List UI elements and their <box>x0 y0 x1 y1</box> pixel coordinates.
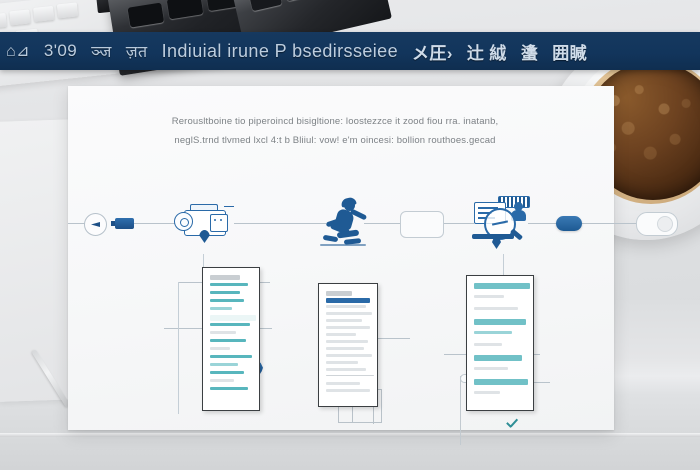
panel-content <box>206 271 256 407</box>
panel-row-line <box>210 291 240 294</box>
header-badge: メ圧› <box>412 39 453 64</box>
panel-row-title <box>210 275 240 280</box>
flow-connector <box>132 223 176 224</box>
panel-row-line <box>326 312 372 315</box>
panel-row-line <box>326 326 370 329</box>
toggle-switch[interactable] <box>636 212 678 236</box>
panel-row-line <box>326 347 364 350</box>
panel-row-band <box>210 315 256 321</box>
device-key <box>249 0 282 11</box>
wireframe-tick <box>373 404 374 424</box>
panel-row-line <box>210 339 246 342</box>
panel-row-band <box>474 355 522 361</box>
panel-row-band <box>474 379 528 385</box>
rounded-rect-placeholder[interactable] <box>400 211 444 238</box>
panel-row-line <box>210 283 248 286</box>
document-panel-left[interactable] <box>202 267 260 411</box>
blue-pill-node[interactable] <box>556 216 582 231</box>
panel-row-line <box>210 299 244 302</box>
panel-row-line <box>210 371 244 374</box>
panel-row-line <box>210 347 230 350</box>
device-key <box>127 3 164 28</box>
printer-antenna <box>224 206 234 207</box>
header-band: ⌂⊿ 3'09 ञ्ज ज़त Indiuial irune P bsedirs… <box>0 32 700 70</box>
panel-row-line <box>210 355 252 358</box>
header-tail-2: 䗬 <box>521 39 538 64</box>
panel-row-line <box>210 331 236 334</box>
flow-connector <box>580 223 638 224</box>
device-key <box>167 0 204 19</box>
desk-edge <box>0 433 700 437</box>
panel-row-line <box>210 363 238 366</box>
printer-scanner-icon[interactable] <box>172 202 236 246</box>
flow-connector-vertical <box>178 282 179 414</box>
header-tail-1: 辻 䋐 <box>467 39 507 64</box>
flow-connector <box>234 223 326 224</box>
panel-row-line <box>474 307 518 310</box>
keyboard-key <box>0 13 7 29</box>
panel-row-line <box>210 387 248 390</box>
target-cursor-icon[interactable] <box>84 213 107 236</box>
panel-row-line <box>474 295 504 298</box>
keyboard-key <box>33 6 54 22</box>
analytics-base <box>472 234 514 239</box>
panel-row-head <box>326 298 370 303</box>
report-panel-right[interactable] <box>466 275 534 411</box>
panel-row-sep <box>326 375 374 376</box>
panel-row-line <box>326 333 356 336</box>
scanner-disc <box>174 212 193 231</box>
header-title: Indiuial irune P bsedirsseiee <box>162 41 398 62</box>
panel-row-line <box>210 307 232 310</box>
printer-pin-icon <box>199 230 210 243</box>
content-card: Rerousltboine tio piperoincd bisigltione… <box>68 86 614 430</box>
panel-row-line <box>474 343 502 346</box>
running-person-icon[interactable] <box>320 198 368 250</box>
flow-connector <box>364 223 404 224</box>
panel-row-line <box>326 354 372 357</box>
runner-ground-line <box>320 244 366 246</box>
panel-row-title <box>326 291 352 296</box>
panel-row-band <box>474 319 526 325</box>
caption-block: Rerousltboine tio piperoincd bisigltione… <box>102 112 568 150</box>
form-panel-center[interactable] <box>318 283 378 407</box>
runner-shoe <box>323 235 339 243</box>
panel-content <box>470 279 530 407</box>
panel-row-line <box>326 382 360 385</box>
panel-row-line <box>326 361 358 364</box>
panel-content <box>322 287 374 403</box>
workflow-diagram <box>68 194 614 254</box>
flow-connector <box>376 338 410 339</box>
caption-line-2: neglS.trnd tlvmed lxcl 4:t b Bliiul: vow… <box>102 131 568 150</box>
panel-row-line <box>326 305 366 308</box>
header-left-glyph: ⌂⊿ <box>6 41 30 61</box>
panel-row-line <box>474 391 500 394</box>
panel-row-line <box>326 319 362 322</box>
panel-row-line <box>474 367 508 370</box>
panel-row-line <box>474 331 512 334</box>
panel-row-line <box>326 389 370 392</box>
blue-chip-icon[interactable] <box>115 218 134 229</box>
teal-check-icon <box>506 420 518 429</box>
panel-row-line <box>210 323 250 326</box>
panel-row-line <box>326 368 366 371</box>
caption-line-1: Rerousltboine tio piperoincd bisigltione… <box>102 112 568 131</box>
header-glyph-mid-2: ज़त <box>126 40 148 62</box>
panel-row-line <box>210 379 234 382</box>
analytics-pin-icon <box>492 238 501 249</box>
panel-row-line <box>326 340 368 343</box>
keyboard-key <box>9 9 30 25</box>
header-tail-3: 囲䁍 <box>552 39 587 64</box>
header-glyph-mid: ञ्ज <box>91 40 112 62</box>
panel-row-band <box>474 283 530 289</box>
printer-panel <box>210 214 228 232</box>
analytics-magnifier-icon[interactable] <box>468 196 534 252</box>
keyboard-key <box>57 2 78 18</box>
header-time: 3'09 <box>44 41 77 61</box>
